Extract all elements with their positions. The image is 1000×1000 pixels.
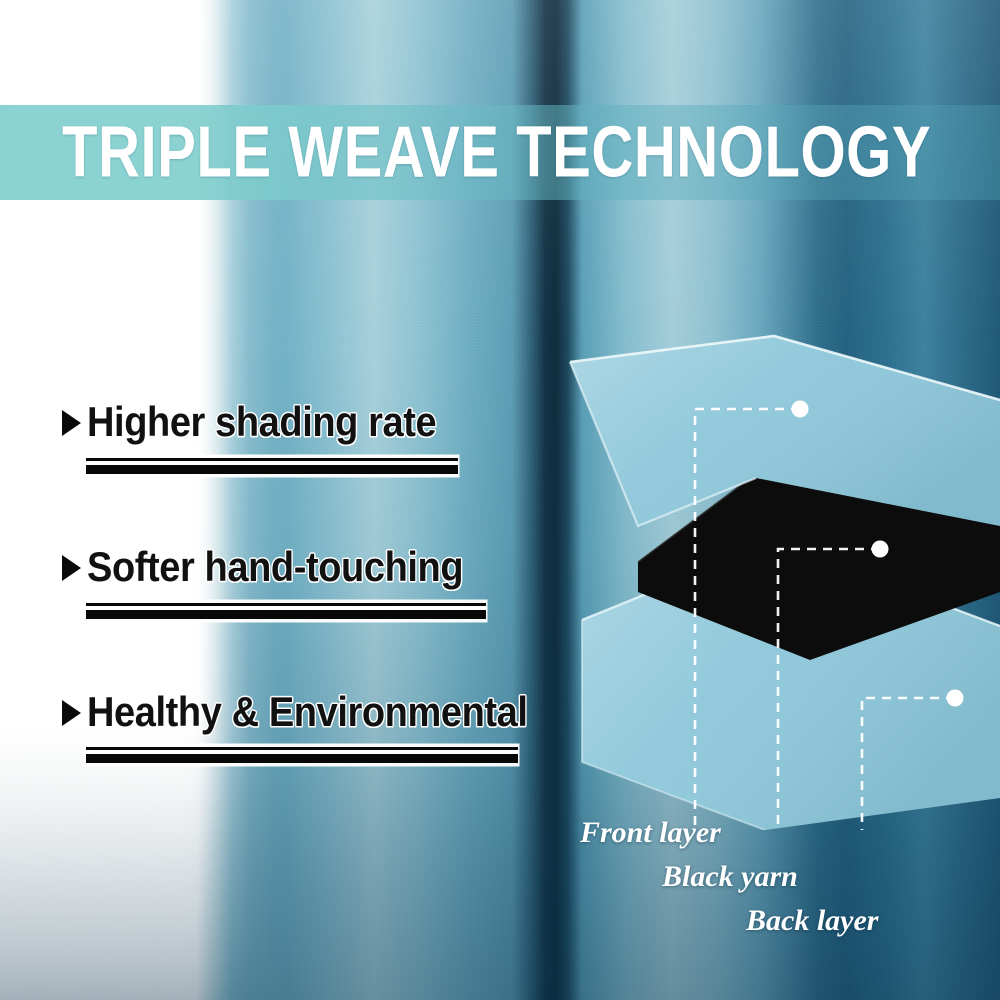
triangle-right-icon (62, 555, 81, 581)
feature-label: Softer hand-touching (87, 547, 463, 590)
feature-list: Higher shading rate Softer hand-touching (62, 404, 582, 838)
feature-underline (86, 456, 458, 476)
feature-label: Higher shading rate (87, 402, 436, 445)
feature-item-softer-hand-touching: Softer hand-touching (62, 549, 582, 621)
feature-label: Healthy & Environmental (87, 692, 528, 735)
callout-label-group: Front layer Black yarn Back layer (560, 800, 1000, 960)
underline-thick (86, 465, 458, 474)
feature-underline (86, 601, 486, 621)
triangle-right-icon (62, 410, 81, 436)
underline-thick (86, 610, 486, 619)
callout-label-back-layer: Back layer (746, 906, 878, 936)
underline-thick (86, 754, 518, 763)
fabric-layer-diagram (560, 330, 1000, 830)
feature-underline (86, 745, 518, 765)
callout-label-black-yarn: Black yarn (662, 862, 798, 892)
callout-label-front-layer: Front layer (580, 818, 721, 848)
title-banner: TRIPLE WEAVE TECHNOLOGY (0, 105, 1000, 200)
product-infographic: TRIPLE WEAVE TECHNOLOGY Higher shading r… (0, 0, 1000, 1000)
feature-item-healthy-environmental: Healthy & Environmental (62, 694, 582, 766)
feature-item-higher-shading-rate: Higher shading rate (62, 404, 582, 476)
banner-title: TRIPLE WEAVE TECHNOLOGY (62, 117, 931, 189)
triangle-right-icon (62, 700, 81, 726)
